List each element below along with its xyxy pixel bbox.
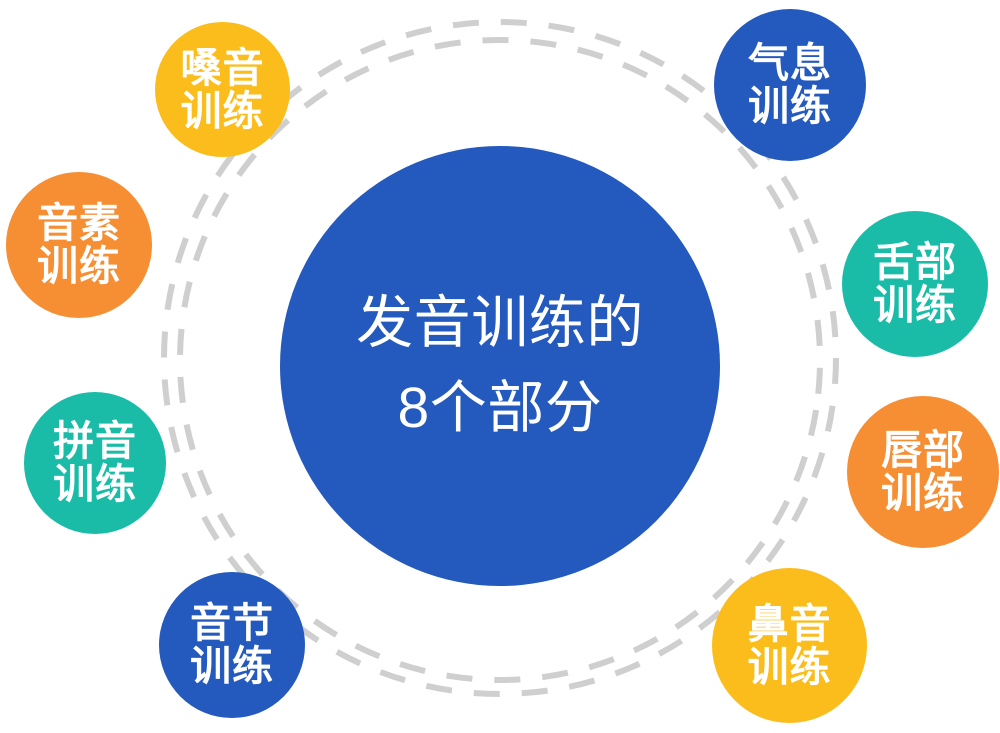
node-pinyin-line-1: 拼音 — [53, 420, 137, 463]
node-nasal-line-1: 鼻音 — [748, 603, 832, 646]
node-phoneme[interactable]: 音素 训练 — [6, 172, 152, 318]
node-syllable-line-2: 训练 — [190, 645, 274, 688]
node-tongue[interactable]: 舌部 训练 — [842, 211, 988, 357]
diagram-canvas: 发音训练的 8个部分 嗓音 训练 气息 训练 舌部 训练 唇部 训练 鼻音 训练… — [0, 0, 1000, 733]
node-nasal[interactable]: 鼻音 训练 — [712, 568, 867, 723]
node-lips[interactable]: 唇部 训练 — [847, 396, 999, 548]
node-voice[interactable]: 嗓音 训练 — [155, 22, 290, 157]
node-lips-line-2: 训练 — [881, 472, 965, 515]
node-tongue-line-1: 舌部 — [873, 241, 957, 284]
center-title-line-2: 8个部分 — [398, 366, 603, 452]
node-voice-line-2: 训练 — [181, 90, 265, 133]
node-breath-line-2: 训练 — [748, 85, 832, 128]
node-syllable[interactable]: 音节 训练 — [159, 572, 305, 718]
node-tongue-line-2: 训练 — [873, 284, 957, 327]
node-nasal-line-2: 训练 — [748, 646, 832, 689]
node-breath-line-1: 气息 — [748, 42, 832, 85]
node-syllable-line-1: 音节 — [190, 602, 274, 645]
node-pinyin[interactable]: 拼音 训练 — [24, 392, 166, 534]
node-lips-line-1: 唇部 — [881, 429, 965, 472]
center-title-line-1: 发音训练的 — [356, 281, 644, 367]
node-voice-line-1: 嗓音 — [181, 47, 265, 90]
node-phoneme-line-1: 音素 — [37, 202, 121, 245]
node-pinyin-line-2: 训练 — [53, 463, 137, 506]
center-hub[interactable]: 发音训练的 8个部分 — [280, 146, 720, 586]
node-breath[interactable]: 气息 训练 — [714, 9, 866, 161]
node-phoneme-line-2: 训练 — [37, 245, 121, 288]
